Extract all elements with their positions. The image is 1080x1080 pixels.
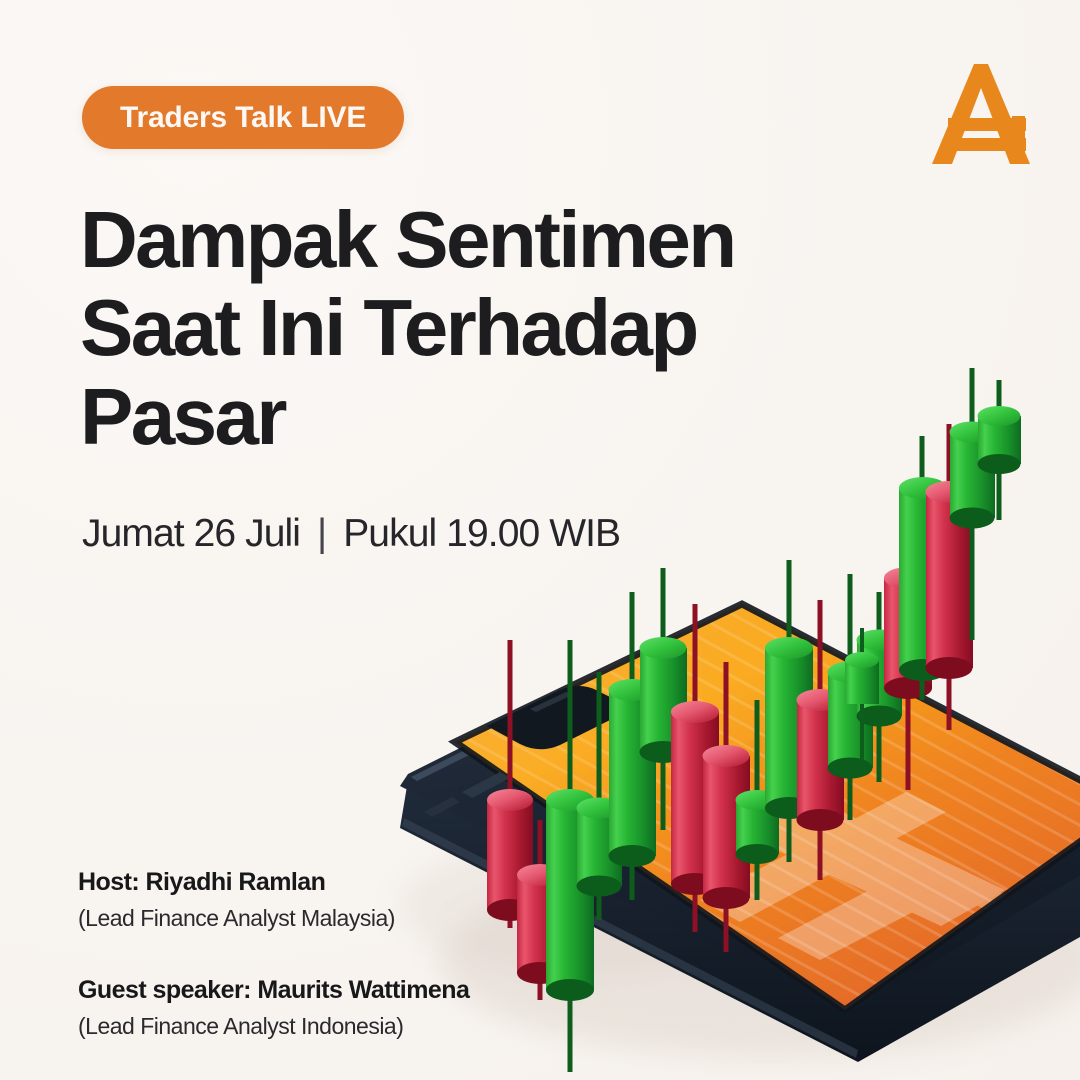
credit-guest-name: Guest speaker: Maurits Wattimena [78, 974, 598, 1007]
brand-letter-a-logo-icon [926, 58, 1034, 170]
headline-line-1: Dampak Sentimen [80, 196, 820, 284]
schedule-line: Jumat 26 Juli | Pukul 19.00 WIB [82, 512, 620, 556]
credit-host-name: Host: Riyadhi Ramlan [78, 866, 598, 899]
live-badge-label: Traders Talk LIVE [120, 101, 366, 135]
headline-line-2: Saat Ini Terhadap [80, 284, 820, 372]
live-badge: Traders Talk LIVE [82, 86, 404, 149]
page-title: Dampak Sentimen Saat Ini Terhadap Pasar [80, 196, 820, 461]
credit-host-role: (Lead Finance Analyst Malaysia) [78, 902, 598, 935]
content-layer: Traders Talk LIVE Dampak Sentimen Saat I… [0, 0, 1080, 1080]
poster-canvas: Traders Talk LIVE Dampak Sentimen Saat I… [0, 0, 1080, 1080]
schedule-separator: | [310, 512, 333, 556]
schedule-time: Pukul 19.00 WIB [343, 512, 620, 555]
headline-line-3: Pasar [80, 373, 820, 461]
credits-block: Host: Riyadhi Ramlan (Lead Finance Analy… [78, 866, 598, 1042]
credit-host: Host: Riyadhi Ramlan (Lead Finance Analy… [78, 866, 598, 935]
credit-guest-speaker: Guest speaker: Maurits Wattimena (Lead F… [78, 974, 598, 1043]
credit-guest-role: (Lead Finance Analyst Indonesia) [78, 1010, 598, 1043]
schedule-date: Jumat 26 Juli [82, 512, 300, 555]
